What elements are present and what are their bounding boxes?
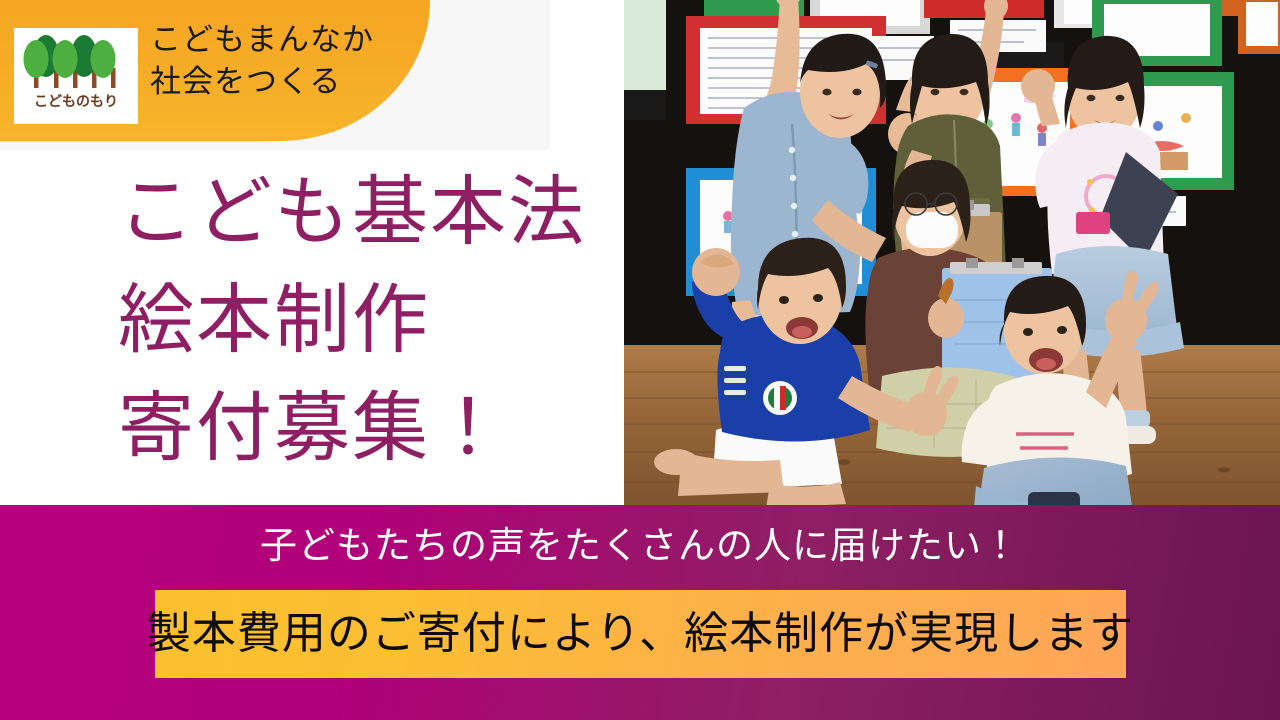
logo-wordmark: こどものもり (34, 95, 118, 109)
main-title-line2: 絵本制作 (118, 266, 624, 374)
logo-kodomonomori: こどものもり (14, 28, 138, 124)
brand-slogan-line1: こどもまんなか (150, 20, 420, 62)
bottom-banner: 子どもたちの声をたくさんの人に届けたい！ 製本費用のご寄付により、絵本制作が実現… (0, 505, 1280, 720)
brand-slogan-line2: 社会をつくる (150, 62, 420, 104)
left-white-panel: こどものもり こどもまんなか 社会をつくる こども基本法 絵本制作 寄付募集！ (0, 0, 624, 505)
poster-root: こどものもり こどもまんなか 社会をつくる こども基本法 絵本制作 寄付募集！ (0, 0, 1280, 720)
main-title: こども基本法 絵本制作 寄付募集！ (118, 158, 624, 482)
banner-headline: 子どもたちの声をたくさんの人に届けたい！ (0, 527, 1280, 564)
main-title-line1: こども基本法 (118, 158, 624, 266)
banner-callout-text: 製本費用のご寄付により、絵本制作が実現します (147, 612, 1134, 656)
children-photo (624, 0, 1280, 505)
brand-slogan: こどもまんなか 社会をつくる (150, 20, 420, 104)
forest-trees-icon (21, 32, 131, 94)
main-title-line3: 寄付募集！ (118, 374, 624, 482)
banner-callout-box: 製本費用のご寄付により、絵本制作が実現します (155, 590, 1126, 678)
